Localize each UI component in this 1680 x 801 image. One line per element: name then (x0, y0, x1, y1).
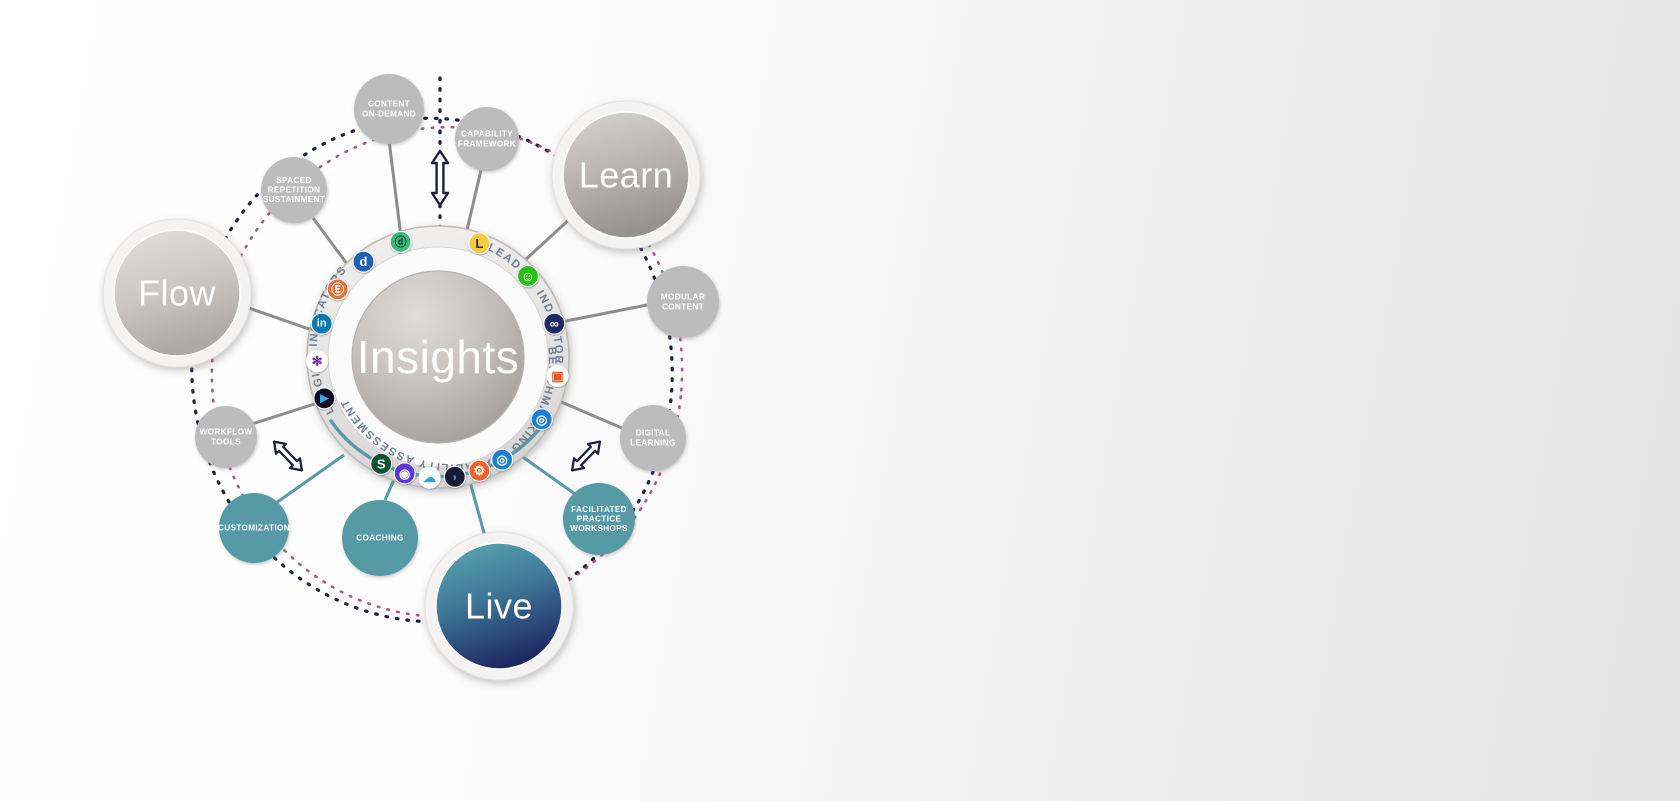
node-modular-content-label-line: MODULAR (661, 293, 705, 302)
node-coaching[interactable]: COACHING (342, 500, 418, 576)
node-capability-framework-label-line: CAPABILITY (461, 130, 513, 139)
node-coaching-label-line: COACHING (356, 534, 403, 543)
hub-learn-label: Learn (579, 155, 674, 196)
node-spaced-repetition-label-line: SPACED (276, 176, 312, 185)
insights-center[interactable]: Insights (352, 271, 524, 443)
smiley-icon[interactable]: ☺ (517, 266, 538, 287)
node-spaced-repetition-label-line: REPETITION (268, 186, 321, 195)
slides-icon[interactable]: ▣ (547, 365, 568, 386)
node-customization[interactable]: CUSTOMIZATION (218, 493, 290, 563)
cloud-icon-glyph: ☁ (423, 470, 436, 485)
hub-live[interactable]: Live (425, 532, 573, 680)
hubspot-icon[interactable]: ⚙ (469, 460, 490, 481)
hubspot-icon-glyph: ⚙ (474, 463, 486, 478)
cloud-icon[interactable]: ☁ (419, 467, 440, 488)
node-content-on-demand-label-line: CONTENT (368, 100, 410, 109)
node-modular-content-label-line: CONTENT (662, 302, 704, 311)
hub-flow[interactable]: Flow (103, 219, 251, 367)
litmos-icon-glyph: L (475, 236, 483, 251)
infinity-icon-glyph: ∞ (550, 316, 559, 331)
node-facilitated-workshops-label-line: WORKSHOPS (570, 524, 628, 533)
node-digital-learning[interactable]: DIGITALLEARNING (620, 405, 686, 471)
slides-icon-glyph: ▣ (551, 368, 563, 383)
skillsoft-icon-glyph: S (377, 456, 386, 471)
node-content-on-demand[interactable]: CONTENTON-DEMAND (354, 74, 424, 144)
spiral-icon-2[interactable]: ◎ (531, 409, 552, 430)
spoke-digital-learning (552, 398, 622, 428)
spoke-modular-content (561, 305, 647, 322)
shield-icon-glyph: ◗ (451, 470, 458, 484)
degreed-d-icon[interactable]: d (353, 251, 374, 272)
node-workflow-tools-label-line: TOOLS (211, 437, 241, 446)
spoke-customization (276, 455, 344, 503)
node-digital-learning-label-line: DIGITAL (636, 429, 671, 438)
spiral-icon-2-glyph: ◎ (536, 412, 547, 427)
degreed-icon[interactable]: ⓓ (390, 231, 411, 252)
person-icon[interactable]: Ⓔ (327, 279, 348, 300)
node-customization-label-line: CUSTOMIZATION (218, 524, 290, 533)
infinity-icon[interactable]: ∞ (544, 313, 565, 334)
puzzle-icon-glyph: ✻ (312, 354, 323, 369)
target-icon[interactable]: ◉ (394, 463, 415, 484)
node-capability-framework[interactable]: CAPABILITYFRAMEWORK (455, 107, 519, 171)
litmos-icon[interactable]: L (469, 233, 490, 254)
node-facilitated-workshops[interactable]: FACILITATEDPRACTICEWORKSHOPS (563, 483, 635, 555)
play-badge-icon[interactable]: ▶ (314, 388, 335, 409)
degreed-d-icon-glyph: d (360, 254, 368, 269)
double-arrow-lower-left (269, 437, 307, 475)
node-workflow-tools-label-line: WORKFLOW (200, 428, 253, 437)
double-arrow-lower-right (567, 437, 605, 475)
target-icon-glyph: ◉ (399, 466, 410, 481)
spoke-flow (240, 305, 312, 330)
linkedin-icon-glyph: in (317, 318, 327, 330)
node-content-on-demand-label-line: ON-DEMAND (362, 109, 416, 118)
spoke-content-on-demand (389, 140, 402, 245)
insights-label: Insights (357, 331, 520, 383)
hub-flow-label: Flow (138, 273, 217, 314)
spiral-icon[interactable]: ◎ (492, 449, 513, 470)
person-icon-glyph: Ⓔ (331, 282, 344, 297)
double-arrow-vertical-top (432, 151, 448, 205)
spoke-facilitated-workshops (520, 455, 575, 494)
diagram-canvas: LAGGING INDICATORS LEADING INDICATORS BE… (0, 0, 1680, 801)
play-badge-icon-glyph: ▶ (319, 392, 329, 404)
hub-learn[interactable]: Learn (552, 101, 700, 249)
node-modular-content[interactable]: MODULARCONTENT (647, 266, 719, 338)
puzzle-icon[interactable]: ✻ (307, 351, 328, 372)
node-spaced-repetition-label-line: SUSTAINMENT (263, 195, 325, 204)
node-digital-learning-label-line: LEARNING (630, 438, 676, 447)
linkedin-icon[interactable]: in (311, 313, 332, 334)
spiral-icon-glyph: ◎ (496, 452, 507, 467)
node-workflow-tools[interactable]: WORKFLOWTOOLS (195, 406, 257, 468)
degreed-icon-glyph: ⓓ (395, 234, 407, 249)
hub-live-label: Live (465, 586, 533, 627)
node-capability-framework-label-line: FRAMEWORK (458, 139, 516, 148)
shield-icon[interactable]: ◗ (444, 466, 465, 487)
node-facilitated-workshops-label-line: PRACTICE (577, 515, 622, 524)
node-facilitated-workshops-label-line: FACILITATED (571, 505, 627, 514)
ecosystem-diagram: LAGGING INDICATORS LEADING INDICATORS BE… (0, 0, 1680, 801)
smiley-icon-glyph: ☺ (521, 268, 535, 284)
skillsoft-icon[interactable]: S (371, 453, 392, 474)
node-spaced-repetition[interactable]: SPACEDREPETITIONSUSTAINMENT (261, 157, 327, 223)
